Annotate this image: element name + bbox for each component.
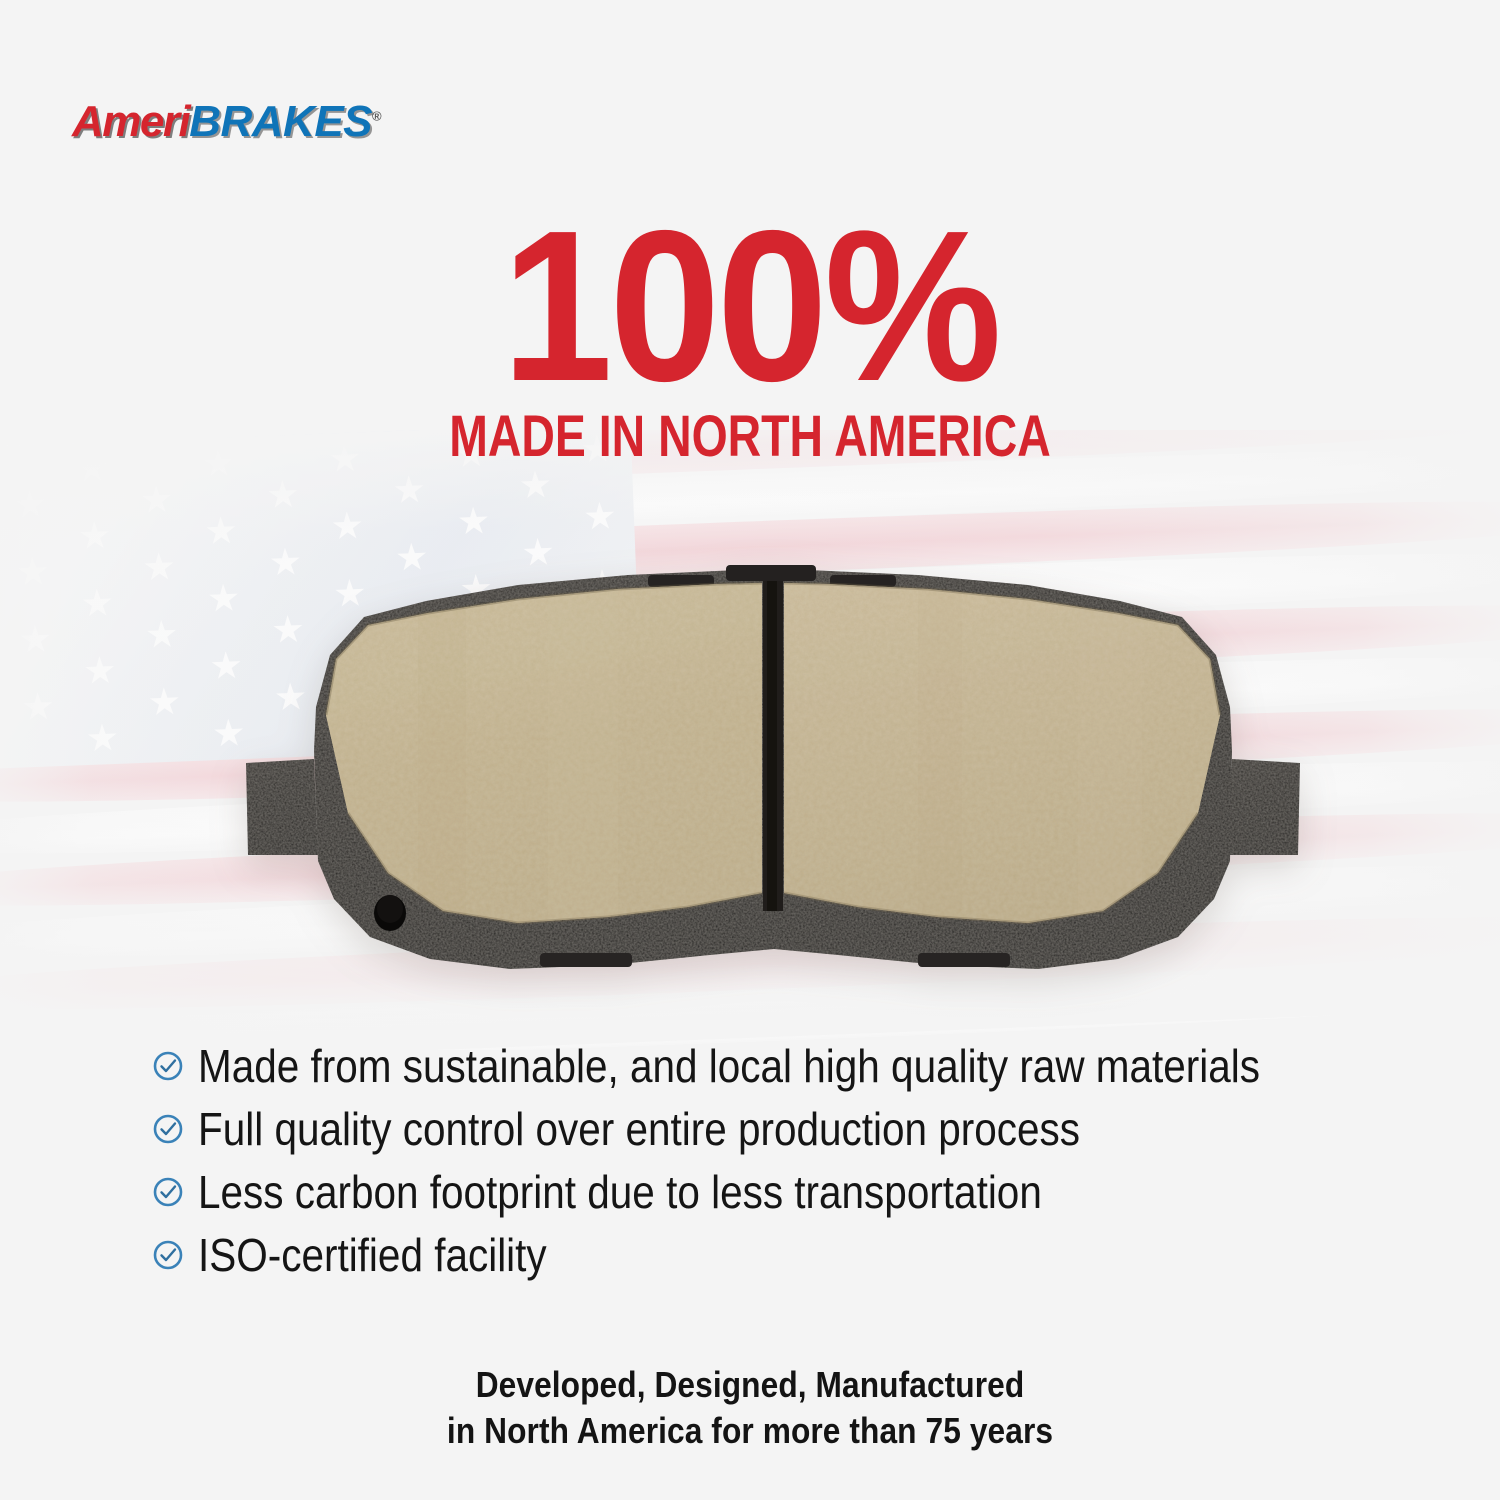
flag-star [205,516,236,547]
flag-star [82,588,113,619]
benefit-text: ISO-certified facility [198,1231,547,1279]
list-item: Less carbon footprint due to less transp… [152,1166,1382,1218]
promo-graphic: AmeriBRAKES® 100% MADE IN NORTH AMERICA [0,0,1500,1500]
check-circle-icon [152,1176,184,1208]
flag-star [84,655,115,686]
flag-star [520,470,551,501]
footer-line-2: in North America for more than 75 years [90,1408,1410,1454]
flag-star [267,480,298,511]
center-slot [763,581,783,911]
check-circle-icon [152,1050,184,1082]
benefit-text: Full quality control over entire product… [198,1105,1080,1153]
flag-star [149,687,180,718]
registered-trademark-icon: ® [372,108,381,123]
footer-tagline: Developed, Designed, Manufactured in Nor… [0,1362,1500,1454]
flag-star [144,552,175,583]
brake-pad-image [218,555,1328,995]
flag-star [146,619,177,650]
flag-star [141,484,172,515]
logo-ameri-text: Ameri [72,97,189,146]
headline-subtitle: MADE IN NORTH AMERICA [150,408,1350,466]
flag-star [17,557,48,588]
flag-star [79,521,110,552]
flag-star [332,511,363,542]
benefit-text: Made from sustainable, and local high qu… [198,1042,1260,1090]
list-item: ISO-certified facility [152,1229,1382,1281]
benefits-list: Made from sustainable, and local high qu… [152,1040,1382,1292]
check-circle-icon [152,1239,184,1271]
flag-star [584,501,615,532]
list-item: Full quality control over entire product… [152,1103,1382,1155]
flag-star [458,506,489,537]
check-circle-icon [152,1113,184,1145]
footer-line-1: Developed, Designed, Manufactured [90,1362,1410,1408]
headline-percent: 100% [53,198,1448,413]
list-item: Made from sustainable, and local high qu… [152,1040,1382,1092]
benefit-text: Less carbon footprint due to less transp… [198,1168,1042,1216]
ameribrakes-logo[interactable]: AmeriBRAKES® [72,100,381,144]
logo-brakes-text: BRAKES [189,97,372,146]
brake-pad-svg [218,555,1328,995]
flag-star [77,453,108,484]
flag-star [22,692,53,723]
flag-star [20,624,51,655]
flag-star [394,475,425,506]
flag-star [87,723,118,754]
flag-star [15,489,46,520]
